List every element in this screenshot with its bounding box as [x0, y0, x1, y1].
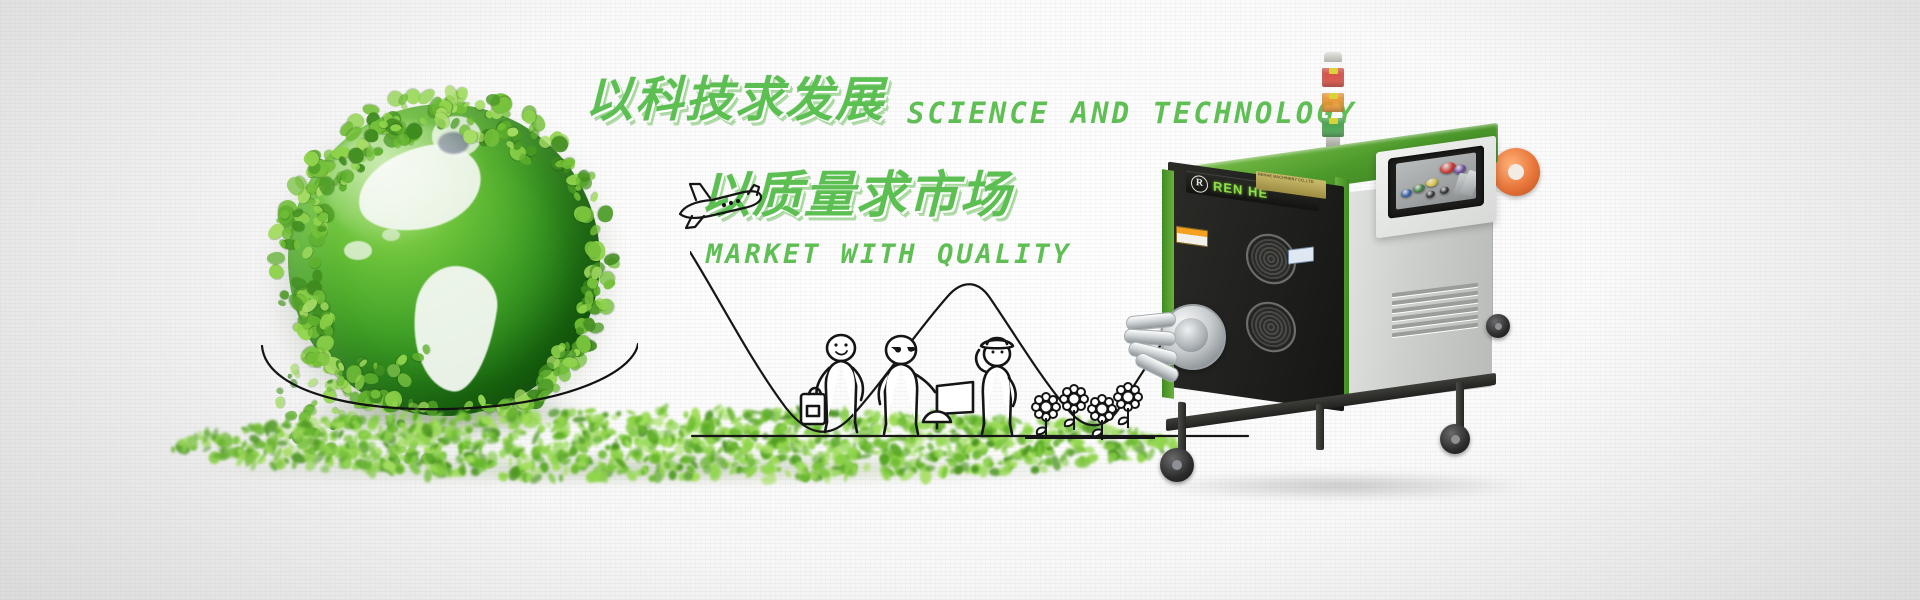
wheel-hub [1495, 323, 1502, 330]
slogan-chinese-quality: 以质量求市场 [700, 155, 1012, 227]
spool-hub [1508, 164, 1524, 180]
traveler-with-suitcase [801, 335, 863, 432]
slogan-english-quality: MARKET WITH QUALITY [706, 239, 1072, 270]
cart-leg-middle [1316, 404, 1324, 450]
continent-island-west [344, 241, 372, 260]
continent-south-america [405, 261, 503, 396]
stick-people-doodle-icon [795, 330, 1027, 440]
panel-knob-indicator-a [1426, 190, 1435, 198]
green-leaf-globe [288, 104, 600, 416]
tower-light-amber [1322, 93, 1344, 112]
panel-knob-selector-c [1401, 188, 1412, 198]
flowers-doodle-icon [1025, 378, 1155, 440]
panel-knob-selector-b [1413, 184, 1425, 194]
industrial-machine: R REN HE RENHE MACHINERY CO.,LTD [1140, 52, 1560, 512]
tower-light-green [1322, 118, 1344, 137]
tower-chip-red [1329, 68, 1338, 74]
person-with-hat-saluting [976, 338, 1015, 434]
panel-knob-selector-a [1426, 178, 1438, 188]
globe-highlight [325, 123, 487, 248]
brand-logo-icon: R [1191, 174, 1208, 193]
hero-banner: 以科技求发展 SCIENCE AND TECHNOLOGY 以质量求市场 MAR… [0, 0, 1920, 600]
wheel-hub [1172, 460, 1182, 470]
caster-wheel-rear [1486, 314, 1510, 338]
tower-chip-amber [1329, 93, 1338, 99]
signal-tower-light [1320, 52, 1346, 148]
person-with-sunglasses-and-flag [879, 336, 973, 434]
tower-cap [1324, 52, 1342, 62]
ventilation-louvers [1392, 283, 1478, 350]
wheel-hub [1451, 435, 1460, 444]
tower-light-red [1322, 68, 1344, 87]
slogan-chinese-technology: 以科技求发展 [585, 60, 885, 130]
globe-illustration [262, 96, 622, 458]
tower-chip-green [1329, 118, 1338, 124]
nozzle-core [1174, 318, 1208, 352]
machine-shadow [1150, 472, 1530, 500]
panel-knob-indicator-b [1440, 186, 1449, 194]
spec-label [1288, 246, 1314, 264]
grass-shadow [185, 452, 1145, 486]
caster-wheel-front-right [1440, 424, 1470, 454]
slogan-block-quality: 以质量求市场 MARKET WITH QUALITY [700, 155, 1072, 270]
